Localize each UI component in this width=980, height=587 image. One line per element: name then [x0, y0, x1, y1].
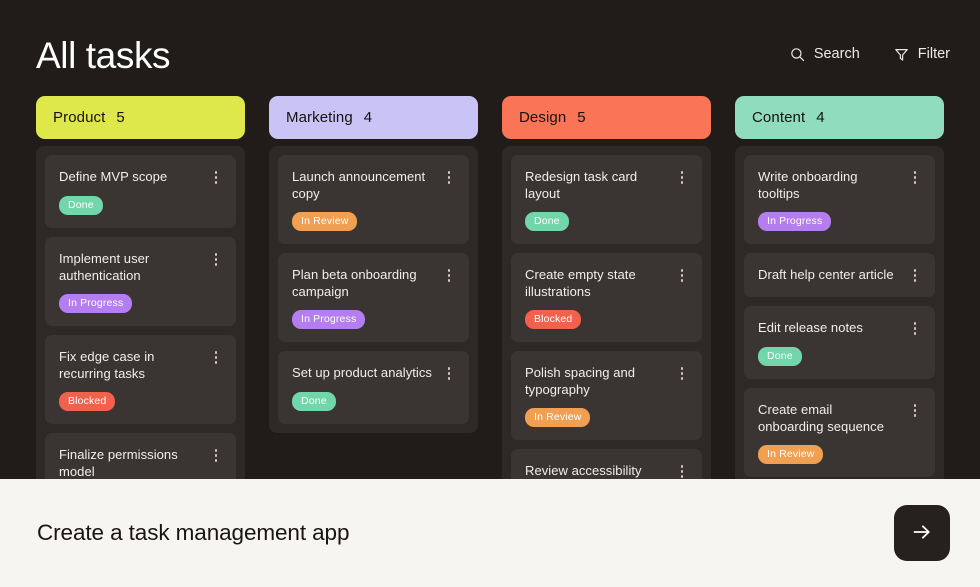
task-card-menu-icon[interactable] — [442, 169, 456, 186]
arrow-right-icon — [910, 520, 934, 547]
task-card[interactable]: Create email onboarding sequenceIn Revie… — [744, 388, 935, 477]
filter-icon — [894, 47, 909, 62]
task-card-title: Edit release notes — [758, 319, 900, 336]
task-card-menu-icon[interactable] — [675, 463, 689, 480]
submit-button[interactable] — [894, 505, 950, 561]
task-card-top: Plan beta onboarding campaign — [292, 266, 456, 300]
column-title: Design — [519, 109, 566, 126]
task-card-menu-icon[interactable] — [209, 169, 223, 186]
column-count: 5 — [116, 109, 124, 126]
prompt-bar: Create a task management app — [0, 479, 980, 587]
status-badge: Done — [525, 212, 569, 231]
task-card-menu-icon[interactable] — [675, 365, 689, 382]
task-card[interactable]: Define MVP scopeDone — [45, 155, 236, 228]
column-title: Product — [53, 109, 105, 126]
column-title: Marketing — [286, 109, 353, 126]
status-badge: In Review — [292, 212, 357, 231]
task-card-menu-icon[interactable] — [908, 169, 922, 186]
column-header[interactable]: Design5 — [502, 96, 711, 139]
task-card-top: Launch announcement copy — [292, 168, 456, 202]
task-card-menu-icon[interactable] — [442, 365, 456, 382]
task-card-top: Draft help center article — [758, 266, 922, 284]
filter-button[interactable]: Filter — [894, 46, 950, 62]
column-title: Content — [752, 109, 805, 126]
column-count: 4 — [364, 109, 372, 126]
task-card-top: Edit release notes — [758, 319, 922, 337]
column-count: 4 — [816, 109, 824, 126]
task-card-top: Fix edge case in recurring tasks — [59, 348, 223, 382]
task-card-menu-icon[interactable] — [908, 267, 922, 284]
board-columns: Product5Define MVP scopeDoneImplement us… — [36, 96, 944, 518]
task-card-title: Redesign task card layout — [525, 168, 667, 202]
status-badge: In Progress — [59, 294, 132, 313]
column-header[interactable]: Content4 — [735, 96, 944, 139]
task-card[interactable]: Draft help center article — [744, 253, 935, 297]
task-card-top: Finalize permissions model — [59, 446, 223, 480]
board-column: Design5Redesign task card layoutDoneCrea… — [502, 96, 711, 518]
task-card-top: Create email onboarding sequence — [758, 401, 922, 435]
task-card-top: Redesign task card layout — [525, 168, 689, 202]
status-badge: In Progress — [292, 310, 365, 329]
prompt-text[interactable]: Create a task management app — [37, 520, 349, 546]
search-button[interactable]: Search — [790, 46, 860, 62]
task-card-title: Create empty state illustrations — [525, 266, 667, 300]
column-count: 5 — [577, 109, 585, 126]
board-column: Product5Define MVP scopeDoneImplement us… — [36, 96, 245, 518]
search-label: Search — [814, 46, 860, 62]
task-card-menu-icon[interactable] — [209, 447, 223, 464]
status-badge: Blocked — [59, 392, 115, 411]
column-card-list: Define MVP scopeDoneImplement user authe… — [36, 146, 245, 502]
filter-label: Filter — [918, 46, 950, 62]
task-card-menu-icon[interactable] — [675, 267, 689, 284]
task-card[interactable]: Plan beta onboarding campaignIn Progress — [278, 253, 469, 342]
task-card-menu-icon[interactable] — [442, 267, 456, 284]
board-header: All tasks Search Filter — [36, 26, 950, 84]
task-card-title: Plan beta onboarding campaign — [292, 266, 434, 300]
status-badge: Done — [292, 392, 336, 411]
task-card-menu-icon[interactable] — [209, 251, 223, 268]
task-card-title: Define MVP scope — [59, 168, 201, 185]
task-card-title: Finalize permissions model — [59, 446, 201, 480]
status-badge: In Review — [758, 445, 823, 464]
column-card-list: Redesign task card layoutDoneCreate empt… — [502, 146, 711, 518]
task-card-title: Set up product analytics — [292, 364, 434, 381]
task-card-title: Implement user authentication — [59, 250, 201, 284]
status-badge: Done — [758, 347, 802, 366]
status-badge: Done — [59, 196, 103, 215]
task-card[interactable]: Set up product analyticsDone — [278, 351, 469, 424]
task-card-top: Implement user authentication — [59, 250, 223, 284]
task-card-menu-icon[interactable] — [209, 349, 223, 366]
board-column: Content4Write onboarding tooltipsIn Prog… — [735, 96, 944, 518]
column-header[interactable]: Marketing4 — [269, 96, 478, 139]
task-card[interactable]: Polish spacing and typographyIn Review — [511, 351, 702, 440]
task-card-top: Set up product analytics — [292, 364, 456, 382]
page-title: All tasks — [36, 37, 170, 74]
search-icon — [790, 47, 805, 62]
task-board: All tasks Search Filter — [0, 0, 980, 477]
column-card-list: Write onboarding tooltipsIn ProgressDraf… — [735, 146, 944, 486]
task-card[interactable]: Create empty state illustrationsBlocked — [511, 253, 702, 342]
column-card-list: Launch announcement copyIn ReviewPlan be… — [269, 146, 478, 433]
task-card-menu-icon[interactable] — [908, 402, 922, 419]
task-card[interactable]: Implement user authenticationIn Progress — [45, 237, 236, 326]
status-badge: In Review — [525, 408, 590, 427]
task-card-title: Launch announcement copy — [292, 168, 434, 202]
task-card-top: Write onboarding tooltips — [758, 168, 922, 202]
header-actions: Search Filter — [790, 46, 950, 64]
task-card-top: Create empty state illustrations — [525, 266, 689, 300]
task-card-menu-icon[interactable] — [675, 169, 689, 186]
task-card[interactable]: Write onboarding tooltipsIn Progress — [744, 155, 935, 244]
task-card-title: Draft help center article — [758, 266, 900, 283]
task-card-menu-icon[interactable] — [908, 320, 922, 337]
task-card-title: Write onboarding tooltips — [758, 168, 900, 202]
column-header[interactable]: Product5 — [36, 96, 245, 139]
task-card-top: Polish spacing and typography — [525, 364, 689, 398]
task-card[interactable]: Redesign task card layoutDone — [511, 155, 702, 244]
task-card[interactable]: Fix edge case in recurring tasksBlocked — [45, 335, 236, 424]
status-badge: Blocked — [525, 310, 581, 329]
task-card-title: Fix edge case in recurring tasks — [59, 348, 201, 382]
task-card-title: Polish spacing and typography — [525, 364, 667, 398]
board-column: Marketing4Launch announcement copyIn Rev… — [269, 96, 478, 518]
task-card[interactable]: Launch announcement copyIn Review — [278, 155, 469, 244]
status-badge: In Progress — [758, 212, 831, 231]
task-card-title: Create email onboarding sequence — [758, 401, 900, 435]
task-card[interactable]: Edit release notesDone — [744, 306, 935, 379]
task-card-top: Define MVP scope — [59, 168, 223, 186]
